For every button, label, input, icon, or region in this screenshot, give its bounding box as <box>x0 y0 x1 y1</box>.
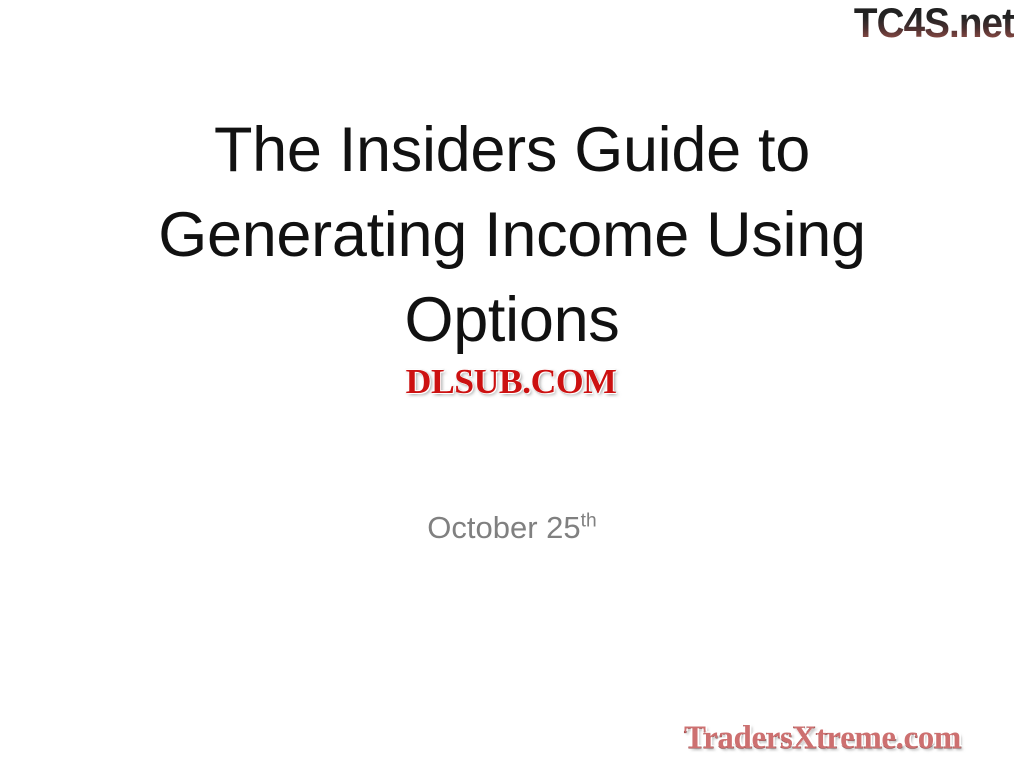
presentation-slide: TC4S.net The Insiders Guide to Generatin… <box>0 0 1024 768</box>
title-line-1: The Insiders Guide to <box>62 108 962 193</box>
subtitle-ordinal-suffix: th <box>581 511 597 532</box>
slide-title: The Insiders Guide to Generating Income … <box>62 108 962 363</box>
slide-subtitle: October 25th <box>62 508 962 548</box>
tradersxtreme-com-logo: TradersXtreme.com <box>684 719 961 757</box>
subtitle-date-text: October 25 <box>427 510 580 545</box>
title-line-3: Options <box>62 278 962 363</box>
dlsub-com-watermark: DLSUB.COM <box>358 363 664 401</box>
dlsub-com-watermark-text: DLSUB.COM <box>406 362 617 401</box>
tc4s-net-logo: TC4S.net <box>854 1 1014 45</box>
title-line-2: Generating Income Using <box>62 193 962 278</box>
